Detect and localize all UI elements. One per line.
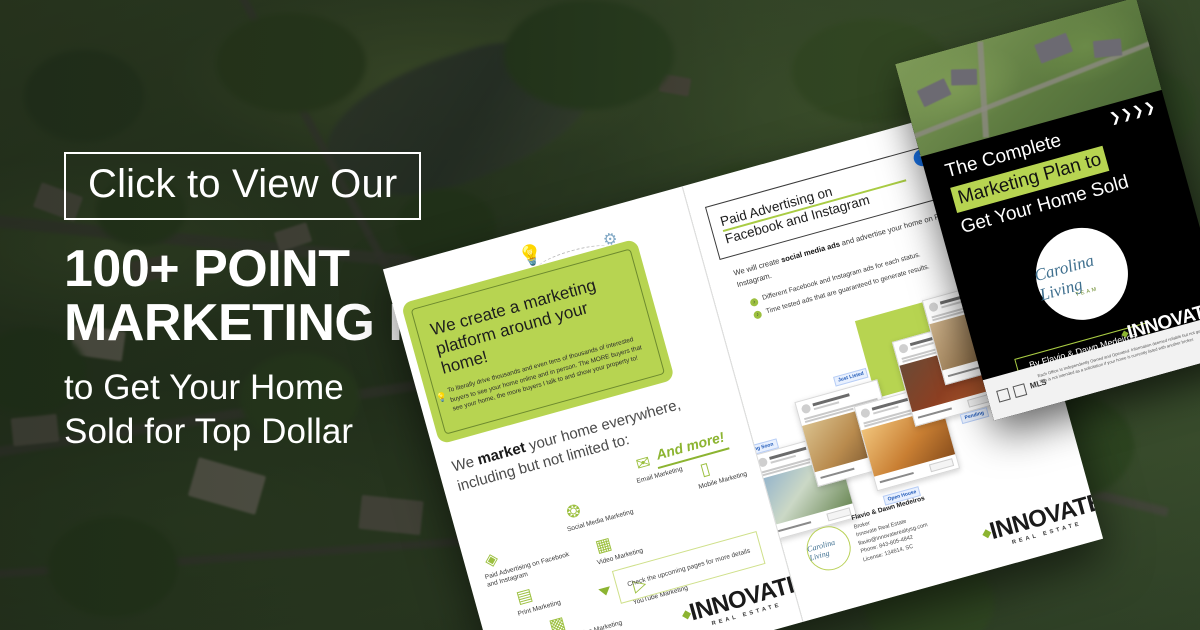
cta-label: Click to View Our bbox=[88, 164, 397, 204]
carolina-living-seal: Carolina Living TEAM bbox=[1025, 217, 1138, 330]
search-engine-icon: ▩ bbox=[544, 611, 571, 630]
avatar bbox=[801, 403, 812, 414]
photo-rooftop bbox=[917, 78, 952, 107]
photo-rooftop bbox=[1093, 38, 1123, 58]
avatar bbox=[928, 302, 939, 313]
realtor-icon bbox=[1013, 383, 1028, 398]
bulb-bullet-icon: 💡 bbox=[435, 391, 449, 405]
avatar bbox=[860, 408, 871, 419]
photo-rooftop bbox=[951, 69, 977, 86]
seal-text: Carolina Living bbox=[1025, 217, 1138, 330]
avatar bbox=[898, 343, 909, 354]
bullet-icon bbox=[749, 297, 759, 307]
bullet-icon bbox=[753, 310, 763, 320]
body-bold: social media ads bbox=[780, 239, 841, 264]
photo-rooftop bbox=[1034, 33, 1073, 64]
callout-title: We create a marketing platform around yo… bbox=[428, 268, 637, 379]
callout-body: To literally drive thousands and even te… bbox=[447, 332, 653, 415]
learn-more-button[interactable] bbox=[826, 507, 851, 521]
photo-road bbox=[977, 41, 989, 137]
click-to-view-button[interactable]: Click to View Our bbox=[64, 152, 421, 220]
equal-housing-icon bbox=[996, 388, 1011, 403]
promo-banner: Click to View Our 100+ POINT MARKETING P… bbox=[0, 0, 1200, 630]
learn-more-button[interactable] bbox=[929, 458, 954, 472]
